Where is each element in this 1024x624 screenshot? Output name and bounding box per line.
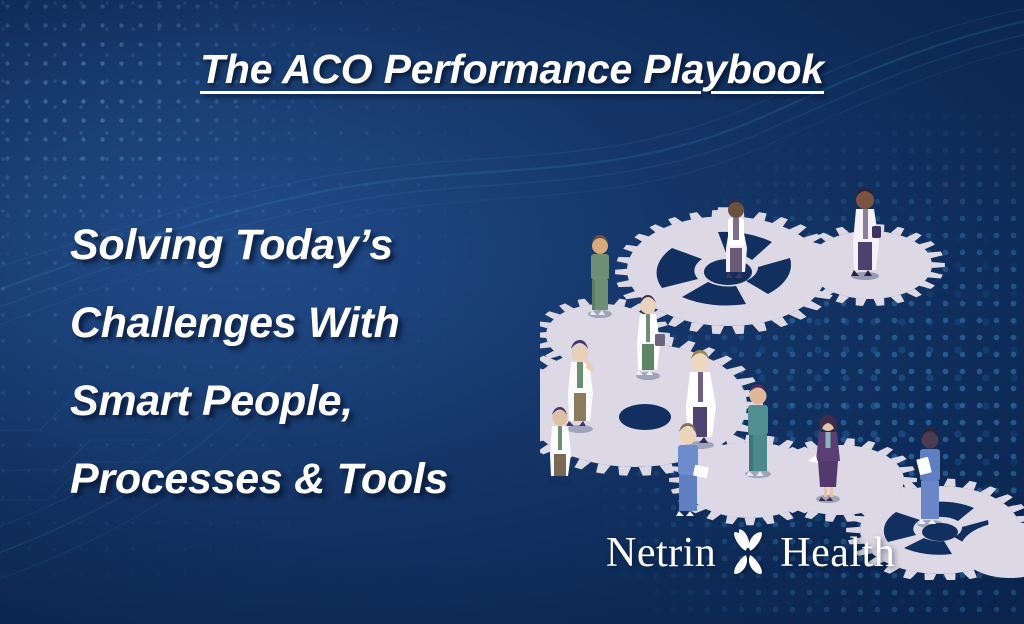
gears-people-illustration: [540, 160, 1024, 580]
subtitle-line-2: Challenges With: [70, 284, 540, 362]
gear-assembly: [540, 210, 1024, 580]
subtitle-line-4: Processes & Tools: [70, 440, 540, 518]
logo-word-netrin: Netrin: [606, 532, 716, 574]
page-title: The ACO Performance Playbook: [0, 46, 1024, 93]
netrin-health-logo: Netrin Health: [606, 527, 895, 579]
subtitle-line-3: Smart People,: [70, 362, 540, 440]
subtitle-block: Solving Today’s Challenges With Smart Pe…: [70, 206, 540, 518]
netrin-pinwheel-leaves-icon: [722, 527, 774, 579]
subtitle-line-1: Solving Today’s: [70, 206, 540, 284]
logo-word-health: Health: [780, 532, 895, 574]
presentation-slide: The ACO Performance Playbook Solving Tod…: [0, 0, 1024, 624]
